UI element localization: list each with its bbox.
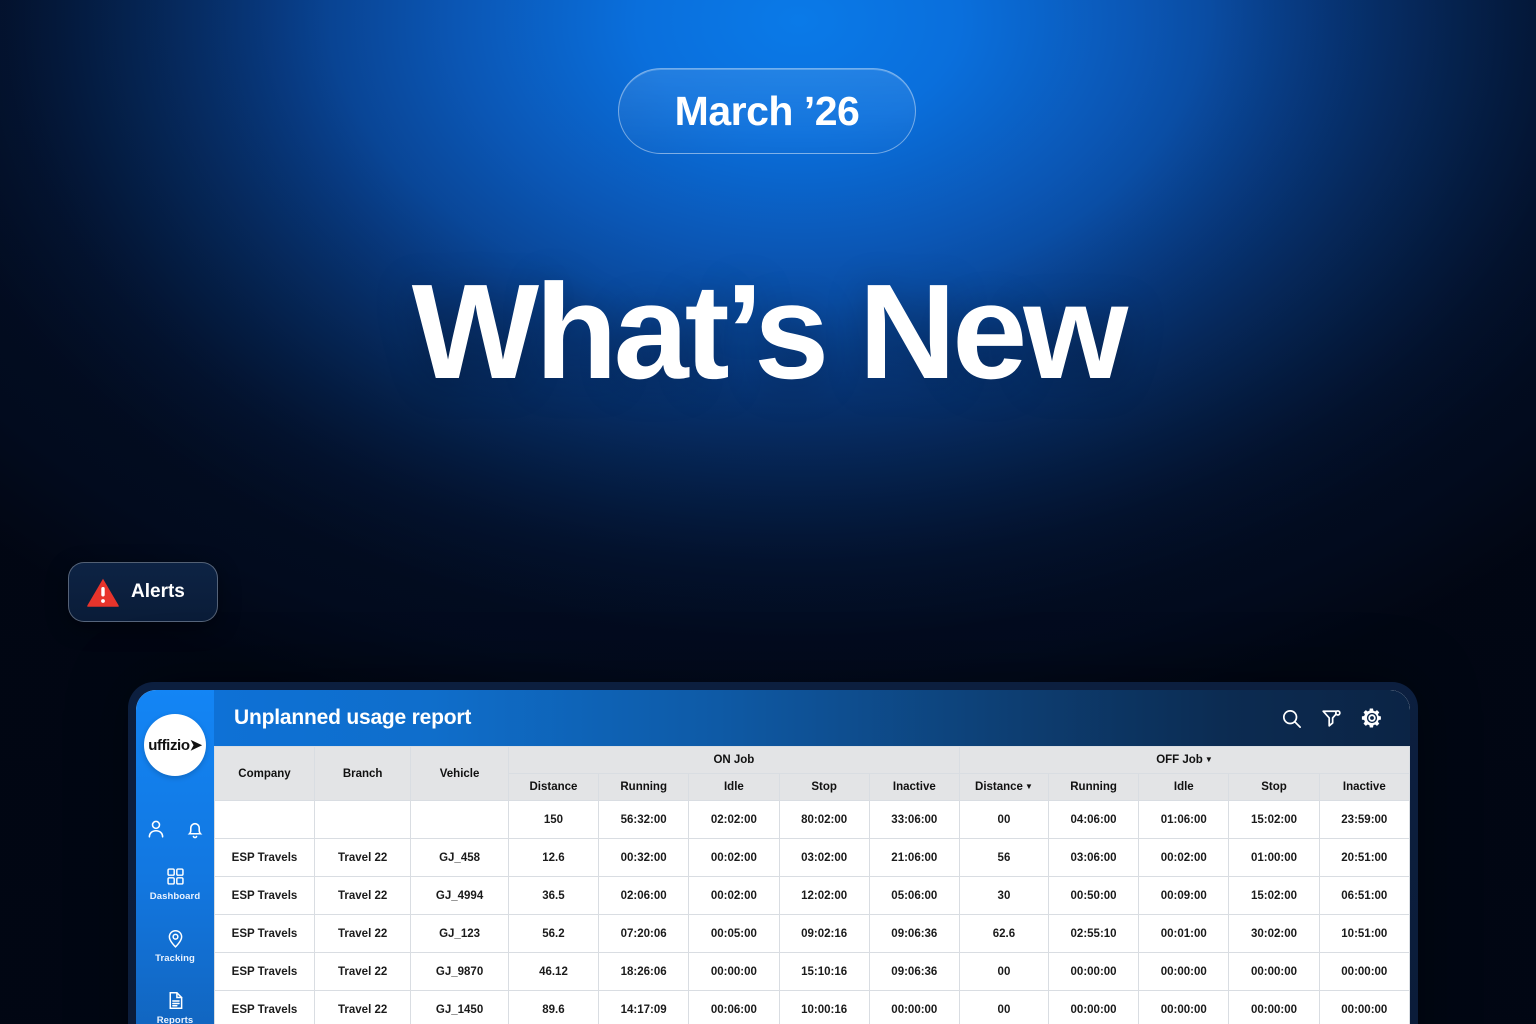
cell-off-idle: 01:06:00 xyxy=(1139,801,1229,839)
cell-off-stop: 15:02:00 xyxy=(1229,877,1319,915)
cell-off-stop: 00:00:00 xyxy=(1229,953,1319,991)
col-off-distance[interactable]: Distance▼ xyxy=(959,774,1048,801)
col-on-inactive[interactable]: Inactive xyxy=(869,774,959,801)
sidebar-item-label: Dashboard xyxy=(150,891,201,902)
cell-off-running: 03:06:00 xyxy=(1048,839,1138,877)
table-row[interactable]: 15056:32:0002:02:0080:02:0033:06:000004:… xyxy=(215,801,1410,839)
cell-off-idle: 00:01:00 xyxy=(1139,915,1229,953)
cell-company: ESP Travels xyxy=(215,991,315,1024)
table-row[interactable]: ESP TravelsTravel 22GJ_12356.207:20:0600… xyxy=(215,915,1410,953)
cell-off-stop: 30:02:00 xyxy=(1229,915,1319,953)
cell-on-stop: 80:02:00 xyxy=(779,801,869,839)
main-panel: Unplanned usage report xyxy=(214,690,1410,1024)
page-title: What’s New xyxy=(0,264,1536,399)
document-icon xyxy=(165,990,186,1011)
table-group-header-row: Company Branch Vehicle ON Job OFF Job▼ xyxy=(215,747,1410,774)
cell-on-stop: 15:10:16 xyxy=(779,953,869,991)
col-off-idle[interactable]: Idle xyxy=(1139,774,1229,801)
cell-on-idle: 00:00:00 xyxy=(689,953,779,991)
alerts-badge[interactable]: Alerts xyxy=(68,562,218,622)
col-company[interactable]: Company xyxy=(215,747,315,801)
alerts-badge-label: Alerts xyxy=(131,581,185,603)
cell-vehicle xyxy=(411,801,509,839)
group-header-off-job[interactable]: OFF Job▼ xyxy=(959,747,1409,774)
report-table-container[interactable]: Company Branch Vehicle ON Job OFF Job▼ D… xyxy=(214,746,1410,1024)
cell-on-running: 02:06:00 xyxy=(599,877,689,915)
search-icon[interactable] xyxy=(1280,707,1303,730)
cell-on-inactive: 05:06:00 xyxy=(869,877,959,915)
cell-off-inactive: 00:00:00 xyxy=(1319,953,1409,991)
cell-branch: Travel 22 xyxy=(314,991,410,1024)
cell-on-inactive: 00:00:00 xyxy=(869,991,959,1024)
sidebar-item-reports[interactable]: Reports xyxy=(136,990,214,1024)
cell-vehicle: GJ_9870 xyxy=(411,953,509,991)
table-row[interactable]: ESP TravelsTravel 22GJ_987046.1218:26:06… xyxy=(215,953,1410,991)
cell-on-inactive: 09:06:36 xyxy=(869,915,959,953)
cell-on-running: 00:32:00 xyxy=(599,839,689,877)
map-pin-icon xyxy=(165,928,186,949)
col-on-idle[interactable]: Idle xyxy=(689,774,779,801)
cell-off-running: 00:00:00 xyxy=(1048,953,1138,991)
cell-off-distance: 00 xyxy=(959,801,1048,839)
filter-icon[interactable] xyxy=(1320,707,1343,730)
cell-off-idle: 00:00:00 xyxy=(1139,953,1229,991)
table-head: Company Branch Vehicle ON Job OFF Job▼ D… xyxy=(215,747,1410,801)
cell-off-inactive: 20:51:00 xyxy=(1319,839,1409,877)
cell-on-distance: 36.5 xyxy=(508,877,598,915)
col-on-running[interactable]: Running xyxy=(599,774,689,801)
cell-on-inactive: 33:06:00 xyxy=(869,801,959,839)
cell-on-running: 07:20:06 xyxy=(599,915,689,953)
sidebar-item-tracking[interactable]: Tracking xyxy=(136,928,214,964)
sidebar-top-icons xyxy=(145,818,206,840)
table-row[interactable]: ESP TravelsTravel 22GJ_45812.600:32:0000… xyxy=(215,839,1410,877)
gear-icon[interactable] xyxy=(1360,706,1384,730)
sidebar: uffizio➤ Dashboard xyxy=(136,690,214,1024)
cell-on-stop: 09:02:16 xyxy=(779,915,869,953)
cell-off-stop: 00:00:00 xyxy=(1229,991,1319,1024)
app-logo[interactable]: uffizio➤ xyxy=(144,714,206,776)
cell-on-idle: 00:02:00 xyxy=(689,877,779,915)
group-header-on-job[interactable]: ON Job xyxy=(508,747,959,774)
cell-off-distance: 56 xyxy=(959,839,1048,877)
cell-off-idle: 00:02:00 xyxy=(1139,839,1229,877)
cell-off-running: 00:00:00 xyxy=(1048,991,1138,1024)
warning-triangle-icon xyxy=(86,577,120,608)
cell-on-inactive: 21:06:00 xyxy=(869,839,959,877)
cell-on-distance: 150 xyxy=(508,801,598,839)
col-on-distance[interactable]: Distance xyxy=(508,774,598,801)
cell-vehicle: GJ_123 xyxy=(411,915,509,953)
chevron-down-icon: ▼ xyxy=(1025,782,1033,791)
cell-on-distance: 46.12 xyxy=(508,953,598,991)
device-frame: uffizio➤ Dashboard xyxy=(128,682,1418,1024)
cell-branch: Travel 22 xyxy=(314,839,410,877)
cell-company: ESP Travels xyxy=(215,877,315,915)
cell-off-running: 02:55:10 xyxy=(1048,915,1138,953)
cell-on-running: 18:26:06 xyxy=(599,953,689,991)
cell-off-idle: 00:00:00 xyxy=(1139,991,1229,1024)
sidebar-item-dashboard[interactable]: Dashboard xyxy=(136,866,214,902)
cell-vehicle: GJ_1450 xyxy=(411,991,509,1024)
cell-off-distance: 00 xyxy=(959,991,1048,1024)
cell-on-running: 56:32:00 xyxy=(599,801,689,839)
date-badge-label: March ’26 xyxy=(675,88,860,135)
cell-off-inactive: 00:00:00 xyxy=(1319,991,1409,1024)
sidebar-item-label: Tracking xyxy=(155,953,195,964)
bell-icon[interactable] xyxy=(184,818,206,840)
cell-off-distance: 00 xyxy=(959,953,1048,991)
screenshot-root: March ’26 What’s New Alerts uffizio➤ xyxy=(0,0,1536,1024)
cell-on-idle: 02:02:00 xyxy=(689,801,779,839)
cell-off-distance: 62.6 xyxy=(959,915,1048,953)
table-body: 15056:32:0002:02:0080:02:0033:06:000004:… xyxy=(215,801,1410,1024)
topbar: Unplanned usage report xyxy=(214,690,1410,746)
col-off-stop[interactable]: Stop xyxy=(1229,774,1319,801)
cell-off-running: 00:50:00 xyxy=(1048,877,1138,915)
report-title: Unplanned usage report xyxy=(234,706,471,730)
sidebar-item-label: Reports xyxy=(157,1015,194,1024)
cell-on-idle: 00:06:00 xyxy=(689,991,779,1024)
col-branch[interactable]: Branch xyxy=(314,747,410,801)
col-vehicle[interactable]: Vehicle xyxy=(411,747,509,801)
cell-branch: Travel 22 xyxy=(314,915,410,953)
cell-on-idle: 00:05:00 xyxy=(689,915,779,953)
cell-on-distance: 56.2 xyxy=(508,915,598,953)
report-table: Company Branch Vehicle ON Job OFF Job▼ D… xyxy=(214,746,1410,1024)
cell-off-stop: 01:00:00 xyxy=(1229,839,1319,877)
cell-vehicle: GJ_458 xyxy=(411,839,509,877)
table-row[interactable]: ESP TravelsTravel 22GJ_499436.502:06:000… xyxy=(215,877,1410,915)
cell-off-inactive: 23:59:00 xyxy=(1319,801,1409,839)
cell-vehicle: GJ_4994 xyxy=(411,877,509,915)
cell-off-inactive: 10:51:00 xyxy=(1319,915,1409,953)
cell-branch: Travel 22 xyxy=(314,953,410,991)
col-off-inactive[interactable]: Inactive xyxy=(1319,774,1409,801)
cell-on-distance: 12.6 xyxy=(508,839,598,877)
app-logo-text: uffizio xyxy=(148,737,189,754)
topbar-actions xyxy=(1280,706,1384,730)
cell-on-running: 14:17:09 xyxy=(599,991,689,1024)
cell-off-stop: 15:02:00 xyxy=(1229,801,1319,839)
cell-on-inactive: 09:06:36 xyxy=(869,953,959,991)
col-off-running[interactable]: Running xyxy=(1048,774,1138,801)
cell-company: ESP Travels xyxy=(215,915,315,953)
cell-on-distance: 89.6 xyxy=(508,991,598,1024)
cell-on-stop: 10:00:16 xyxy=(779,991,869,1024)
cell-company: ESP Travels xyxy=(215,839,315,877)
cell-on-idle: 00:02:00 xyxy=(689,839,779,877)
app-window: uffizio➤ Dashboard xyxy=(136,690,1410,1024)
col-on-stop[interactable]: Stop xyxy=(779,774,869,801)
cell-on-stop: 03:02:00 xyxy=(779,839,869,877)
cell-off-idle: 00:09:00 xyxy=(1139,877,1229,915)
logo-tick-icon: ➤ xyxy=(190,737,202,754)
cell-company xyxy=(215,801,315,839)
cell-off-running: 04:06:00 xyxy=(1048,801,1138,839)
date-badge: March ’26 xyxy=(618,68,916,154)
cell-branch xyxy=(314,801,410,839)
table-row[interactable]: ESP TravelsTravel 22GJ_145089.614:17:090… xyxy=(215,991,1410,1024)
cell-branch: Travel 22 xyxy=(314,877,410,915)
cell-company: ESP Travels xyxy=(215,953,315,991)
user-icon[interactable] xyxy=(145,818,167,840)
cell-off-inactive: 06:51:00 xyxy=(1319,877,1409,915)
cell-on-stop: 12:02:00 xyxy=(779,877,869,915)
chevron-down-icon: ▼ xyxy=(1205,755,1213,764)
cell-off-distance: 30 xyxy=(959,877,1048,915)
grid-icon xyxy=(165,866,186,887)
